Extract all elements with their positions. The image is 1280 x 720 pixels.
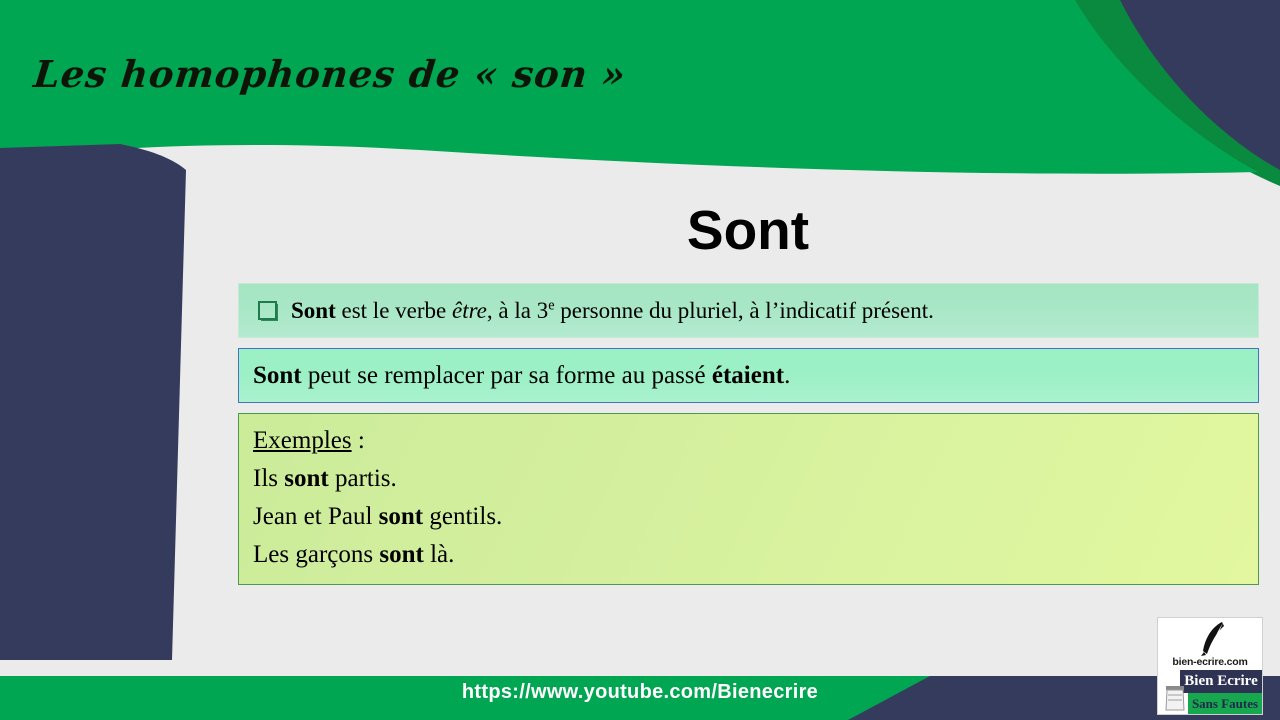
footer-url[interactable]: https://www.youtube.com/Bienecrire	[0, 681, 1280, 704]
examples-label-row: Exemples :	[253, 422, 1244, 460]
quill-pen-icon	[1200, 621, 1228, 657]
example-before: Jean et Paul	[253, 503, 379, 530]
example-line: Ils sont partis.	[253, 460, 1244, 498]
example-keyword: sont	[284, 465, 328, 492]
substitution-keyword: Sont	[253, 362, 302, 389]
substitution-rule-box: Sont peut se remplacer par sa forme au p…	[238, 348, 1259, 403]
navy-left-sidebar	[0, 144, 186, 660]
slide-canvas: Les homophones de « son » Sont Sont est …	[0, 0, 1280, 720]
definition-text-1: est le verbe	[336, 298, 452, 323]
example-line: Les garçons sont là.	[253, 536, 1244, 574]
substitution-text-2: .	[784, 362, 790, 389]
examples-box: Exemples : Ils sont partis. Jean et Paul…	[238, 413, 1259, 585]
example-keyword: sont	[379, 503, 423, 530]
example-after: partis.	[329, 465, 397, 492]
example-after: là.	[424, 541, 455, 568]
definition-text-2: , à la 3	[487, 298, 548, 323]
substitution-replacement: étaient	[712, 362, 784, 389]
example-line: Jean et Paul sont gentils.	[253, 498, 1244, 536]
logo-line-1: Bien Ecrire	[1180, 670, 1262, 693]
definition-text: Sont est le verbe être, à la 3e personne…	[291, 298, 934, 324]
logo-domain: bien-ecrire.com	[1158, 656, 1262, 668]
inkwell-icon	[1162, 678, 1188, 712]
definition-text-3: personne du pluriel, à l’indicatif prése…	[555, 298, 934, 323]
examples-label-suffix: :	[352, 427, 365, 454]
logo-band-primary: Bien Ecrire	[1180, 670, 1262, 693]
example-before: Les garçons	[253, 541, 379, 568]
logo-band-secondary: Sans Fautes	[1188, 693, 1262, 714]
example-before: Ils	[253, 465, 284, 492]
definition-verb: être	[452, 298, 487, 323]
examples-label: Exemples	[253, 427, 352, 454]
definition-box: Sont est le verbe être, à la 3e personne…	[238, 283, 1259, 338]
brand-logo[interactable]: bien-ecrire.com Bien Ecrire Sans Fautes	[1157, 617, 1263, 715]
logo-line-2: Sans Fautes	[1188, 693, 1262, 714]
hollow-square-bullet-icon	[258, 301, 277, 320]
slide-title: Les homophones de « son »	[32, 52, 629, 96]
definition-keyword: Sont	[291, 298, 336, 323]
example-after: gentils.	[423, 503, 502, 530]
substitution-text: Sont peut se remplacer par sa forme au p…	[253, 362, 790, 390]
substitution-text-1: peut se remplacer par sa forme au passé	[302, 362, 712, 389]
example-keyword: sont	[379, 541, 423, 568]
page-heading: Sont	[238, 198, 1258, 262]
